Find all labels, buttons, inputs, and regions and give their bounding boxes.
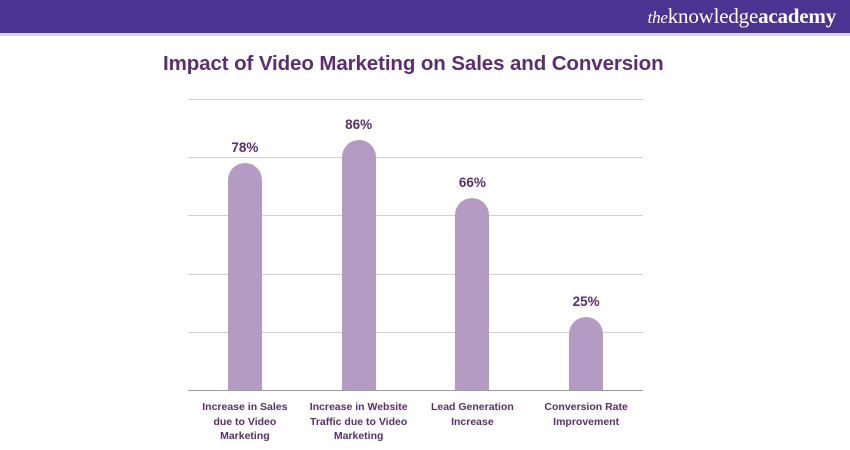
bar-chart: 78%86%66%25% Increase in Salesdue to Vid…	[0, 0, 850, 450]
category-label-4: Conversion RateImprovement	[516, 400, 656, 429]
bar-value-label-4: 25%	[546, 294, 626, 309]
bar-4	[569, 317, 603, 390]
category-label-line: Conversion Rate	[516, 400, 656, 415]
bar-1	[228, 163, 262, 390]
bar-value-label-3: 66%	[432, 175, 512, 190]
bar-2	[342, 140, 376, 390]
bar-value-label-2: 86%	[319, 117, 399, 132]
bar-3	[455, 198, 489, 390]
chart-baseline	[188, 390, 643, 391]
bar-value-label-1: 78%	[205, 140, 285, 155]
chart-bars: 78%86%66%25%	[188, 99, 643, 390]
category-label-line: Marketing	[289, 429, 429, 444]
category-label-line: Improvement	[516, 415, 656, 430]
